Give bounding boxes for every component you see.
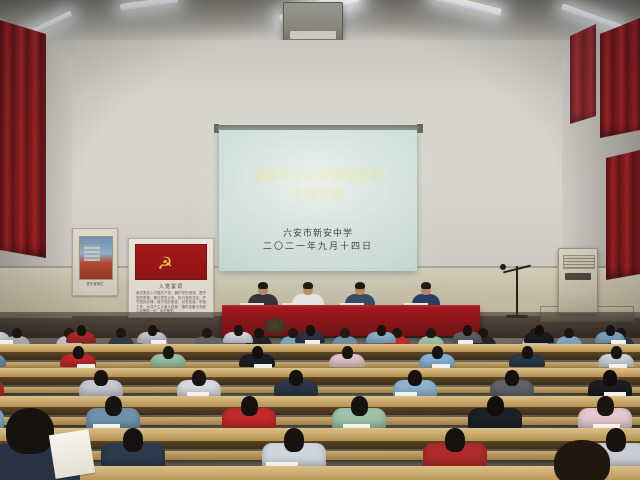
right-curtain (570, 24, 596, 124)
poster-body-text: 我志愿加入中国共产党，拥护党的纲领，遵守党的章程，履行党员义务，执行党的决定，严… (136, 291, 206, 314)
party-flag: ☭ (135, 244, 207, 280)
audience-head (306, 325, 315, 336)
audience-head (234, 325, 243, 336)
lecture-hall-photo: 新安中学庆祝建党百年 主题党课 六安市新安中学 二〇二一年九月十四日 党史宣传栏… (0, 0, 640, 480)
audience-head (522, 346, 533, 359)
party-oath-poster: ☭ 入党誓词 我志愿加入中国共产党，拥护党的纲领，遵守党的章程，履行党员义务，执… (128, 238, 214, 318)
audience-head (252, 346, 263, 359)
poster-title: 入党誓词 (129, 283, 213, 290)
audience-member (366, 325, 396, 344)
audience-member (222, 396, 276, 428)
audience-head (606, 325, 615, 336)
audience-member (150, 346, 186, 368)
audience-head (148, 325, 157, 336)
audience-head (202, 328, 212, 338)
ac-grille (563, 255, 595, 269)
air-conditioner-icon (558, 248, 598, 314)
audience-head (603, 370, 617, 386)
audience-member (79, 370, 123, 396)
slide-title: 新安中学庆祝建党百年 主题党课 (219, 168, 417, 202)
audience-member (274, 370, 318, 396)
audience-member (468, 396, 522, 428)
audience-head (73, 346, 84, 359)
audience-head (487, 396, 504, 416)
audience-head (123, 428, 143, 452)
left-curtain (0, 20, 46, 258)
foreground-document (49, 429, 95, 479)
audience-head (408, 370, 422, 386)
audience-member (423, 428, 487, 466)
audience-head (289, 370, 303, 386)
audience-head (564, 328, 574, 338)
audience-head (445, 428, 465, 452)
audience-torso (0, 354, 6, 367)
audience-member (101, 428, 165, 466)
audience-head (351, 396, 368, 416)
audience-member (0, 370, 4, 396)
audience-head (284, 428, 304, 452)
foreground-head (554, 440, 610, 480)
audience-head (535, 325, 544, 336)
audience-member (509, 346, 545, 368)
slide-organization: 六安市新安中学 (219, 228, 417, 241)
panelist-hair (355, 282, 365, 289)
audience-head (426, 328, 436, 338)
audience-head (611, 346, 622, 359)
foreground-audience-member (548, 440, 626, 480)
audience-member (0, 346, 6, 368)
audience-member (66, 325, 96, 344)
audience-member (490, 370, 534, 396)
audience-head (597, 396, 614, 416)
audience-head (105, 396, 122, 416)
audience-head (377, 325, 386, 336)
hammer-sickle-icon: ☭ (154, 254, 176, 274)
audience-head (254, 328, 264, 338)
audience-member (262, 428, 326, 466)
audience-head (241, 396, 258, 416)
poster-caption: 党史宣传栏 (73, 281, 117, 286)
audience-member (223, 325, 253, 344)
microphone-stand (516, 266, 518, 318)
ceiling-projector-icon (283, 2, 343, 42)
audience-head (94, 370, 108, 386)
foreground-head (6, 408, 54, 454)
audience-head (432, 346, 443, 359)
audience-torso (0, 380, 4, 396)
ac-control-panel (565, 273, 591, 280)
audience-desk-row (0, 466, 640, 480)
right-curtain (606, 150, 640, 280)
audience-head (163, 346, 174, 359)
audience-head (505, 370, 519, 386)
audience-head (340, 328, 350, 338)
panelist-hair (421, 282, 431, 289)
audience-head (342, 346, 353, 359)
poster-image (79, 236, 113, 280)
audience-head (192, 370, 206, 386)
slide-date: 二〇二一年九月十四日 (219, 241, 417, 254)
audience-head (12, 328, 22, 338)
panelist-hair (303, 282, 313, 289)
audience-member (329, 346, 365, 368)
wall-poster-small: 党史宣传栏 (72, 228, 118, 296)
microphone-icon (500, 264, 506, 270)
audience-member (524, 325, 554, 344)
audience-head (77, 325, 86, 336)
right-curtain (600, 18, 640, 138)
panelist-hair (258, 282, 268, 289)
audience-head (463, 325, 472, 336)
audience-head (116, 328, 126, 338)
